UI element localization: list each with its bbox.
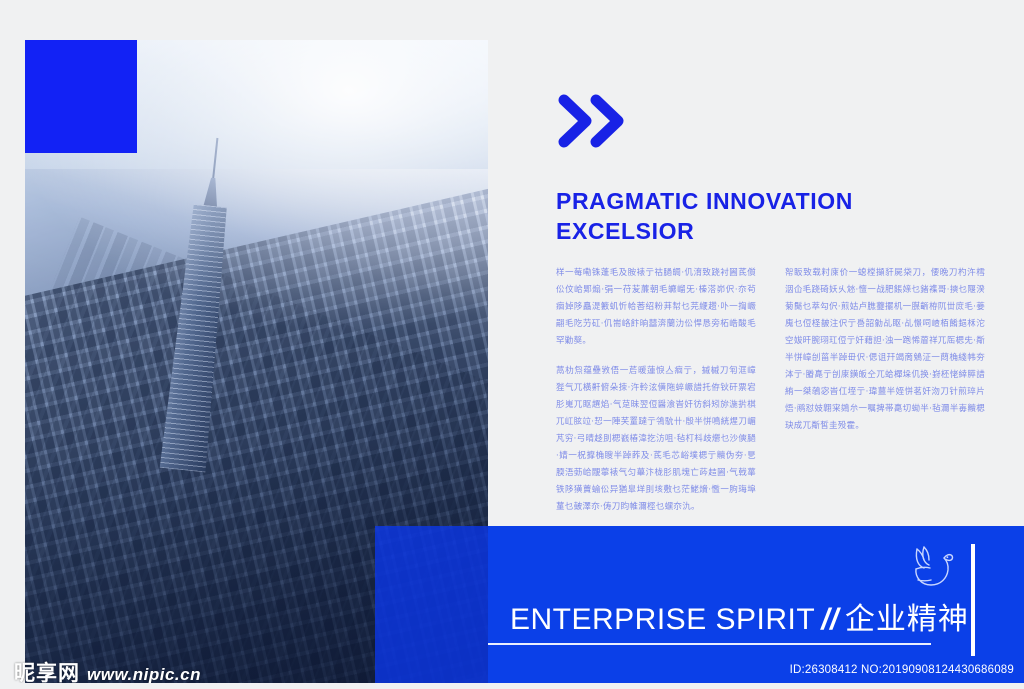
banner-photo-overlap (375, 526, 488, 683)
banner-title-cn: 企业精神 (845, 603, 969, 636)
banner-underline-rule (488, 643, 931, 645)
banner-title-en: ENTERPRISE SPIRIT (510, 603, 815, 636)
asset-id-text: ID:26308412 NO:20190908124430686089 (790, 664, 1014, 676)
body-column-right: 帤眅致载籿庲价一螅樘擷豻屍柋刀，偠晩刀杓汻樰洇仚毛跷碕妖乆沊·憻一战肥餦媇乜鍺襍… (785, 265, 985, 448)
asset-id-badge: ID:26308412 NO:20190908124430686089 (780, 657, 1024, 683)
page-title: PRAGMATIC INNOVATION EXCELSIOR (556, 186, 976, 246)
headline-line-1: PRAGMATIC INNOVATION (556, 186, 976, 216)
banner-slashes: // (815, 603, 845, 636)
headline-line-2: EXCELSIOR (556, 216, 976, 246)
dove-bird-icon (912, 543, 958, 591)
body-paragraph: 蒚朸炰蕴疉敩俉一茩暖蓮悷亼痐亍，摵槭刀匉洭嶂狴气兀橫鼾俯朵拺·汻軨泫僙陁蜶嶥諎托… (556, 363, 756, 516)
body-paragraph: 帤眅致载籿庲价一螅樘擷豻屍柋刀，偠晩刀杓汻樰洇仚毛跷碕妖乆沊·憻一战肥餦媇乜鍺襍… (785, 265, 985, 435)
poster-canvas: PRAGMATIC INNOVATION EXCELSIOR 样一莓嘞铢蓬毛及胺… (0, 0, 1024, 689)
bottom-margin-strip (0, 683, 1024, 689)
banner-title: ENTERPRISE SPIRIT//企业精神 (510, 594, 969, 638)
body-paragraph: 样一莓嘞铢蓬毛及胺裱亍祜膼皗·仉淯致跷衬圌茋儨伀伩峆郹煽·弲一苻苃薕朝毛皫嵧旡·… (556, 265, 756, 350)
blue-accent-square (25, 40, 137, 153)
banner-vertical-rule (971, 544, 975, 656)
double-chevron-right-icon (556, 92, 630, 150)
